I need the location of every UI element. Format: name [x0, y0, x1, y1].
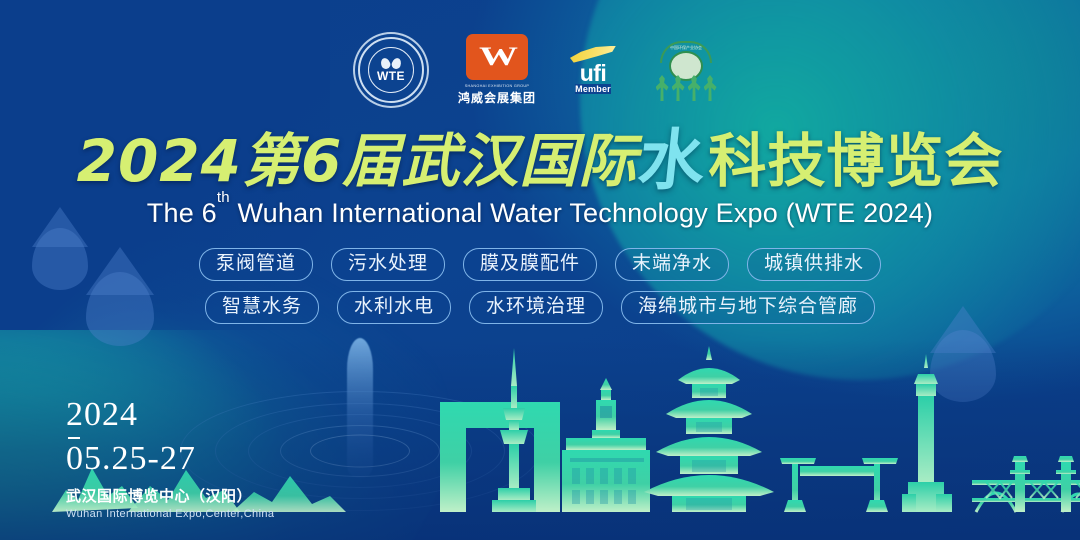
ufi-member-label: Member [575, 84, 611, 94]
english-title-pre: The 6 [147, 198, 217, 228]
venue-name-cn: 武汉国际博览中心（汉阳） [66, 485, 274, 506]
topic-tag[interactable]: 泵阀管道 [199, 248, 313, 281]
topic-tag[interactable]: 水环境治理 [469, 291, 603, 324]
chinese-title-part1: 2024第6届武汉国际 [77, 127, 638, 195]
english-title-post: Wuhan International Water Technology Exp… [230, 198, 933, 228]
date-divider [68, 437, 80, 439]
sponsor-logo-row: WTE W SHANGHAI EXHIBITION GROUP 鸿威会展集团 u… [0, 34, 1080, 106]
wte-logo-text: WTE [377, 70, 405, 82]
hongwei-logo-mark: W [466, 34, 528, 80]
event-year: 2024 [66, 398, 274, 432]
hongwei-w-glyph: W [479, 42, 515, 72]
event-days: 05.25-27 [66, 442, 274, 476]
people-icons [650, 75, 722, 101]
hongwei-logo[interactable]: W SHANGHAI EXHIBITION GROUP 鸿威会展集团 [458, 34, 536, 106]
wte-droplets-icon [381, 58, 401, 69]
green-world-logo-mark: 中国环保产业协会 [650, 39, 722, 101]
ordinal-suffix: th [217, 189, 230, 206]
topic-tag[interactable]: 膜及膜配件 [463, 248, 597, 281]
event-date-venue: 2024 05.25-27 武汉国际博览中心（汉阳） Wuhan Interna… [66, 398, 274, 520]
english-title: The 6th Wuhan International Water Techno… [0, 198, 1080, 229]
topic-tag[interactable]: 末端净水 [615, 248, 729, 281]
chinese-title: 2024第6届武汉国际水科技博览会 [0, 126, 1080, 192]
chinese-title-part2: 科技博览会 [708, 127, 1003, 195]
ufi-logo[interactable]: ufi Member [570, 46, 616, 95]
topic-tag[interactable]: 智慧水务 [205, 291, 319, 324]
venue-name-en: Wuhan International Expo,Center,China [66, 508, 274, 520]
wte-logo[interactable]: WTE [358, 37, 424, 103]
water-character: 水 [636, 128, 710, 194]
topic-tag[interactable]: 水利水电 [337, 291, 451, 324]
wte-logo-mark: WTE [358, 37, 424, 103]
hongwei-logo-en: SHANGHAI EXHIBITION GROUP [465, 83, 530, 88]
poster-banner: WTE W SHANGHAI EXHIBITION GROUP 鸿威会展集团 u… [0, 0, 1080, 540]
topic-tag[interactable]: 海绵城市与地下综合管廊 [621, 291, 875, 324]
green-world-logo[interactable]: 中国环保产业协会 [650, 39, 722, 101]
topic-tag-row-2: 智慧水务 水利水电 水环境治理 海绵城市与地下综合管廊 [205, 291, 875, 324]
ufi-logo-text: ufi [580, 63, 607, 85]
topic-tag[interactable]: 城镇供排水 [747, 248, 881, 281]
topic-tag-row-1: 泵阀管道 污水处理 膜及膜配件 末端净水 城镇供排水 [199, 248, 881, 281]
topic-tag[interactable]: 污水处理 [331, 248, 445, 281]
hongwei-logo-cn: 鸿威会展集团 [458, 89, 536, 106]
topic-tag-list: 泵阀管道 污水处理 膜及膜配件 末端净水 城镇供排水 智慧水务 水利水电 水环境… [0, 248, 1080, 324]
